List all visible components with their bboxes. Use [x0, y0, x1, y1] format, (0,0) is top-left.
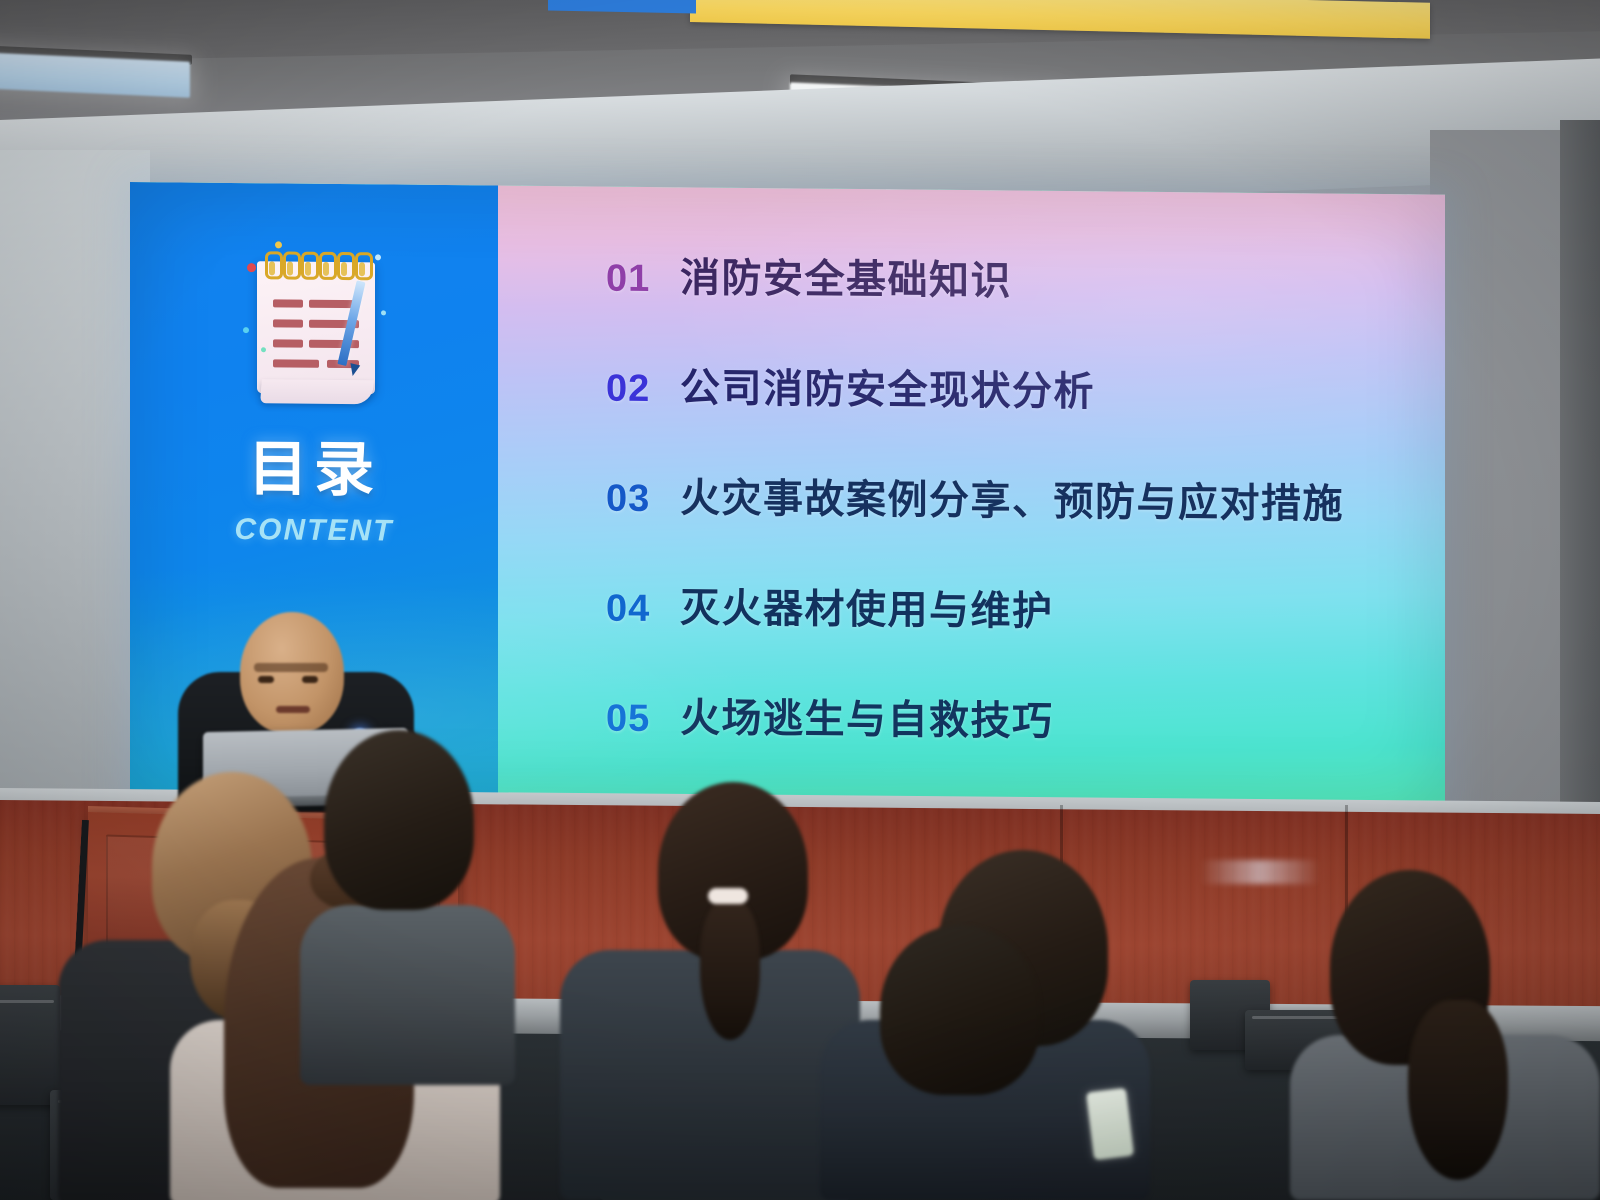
- toc-item-number: 02: [606, 368, 680, 412]
- chair[interactable]: [0, 985, 60, 1105]
- toc-item-label: 火场逃生与自救技巧: [680, 685, 1054, 747]
- toc-item: 04 灭火器材使用与维护: [606, 575, 1445, 641]
- confetti-dot: [243, 327, 249, 333]
- presenter-brow: [254, 663, 328, 672]
- presenter-eye-right: [302, 676, 318, 683]
- toc-item: 03 火灾事故案例分享、预防与应对措施: [606, 465, 1445, 531]
- notepad-ring: [355, 252, 373, 280]
- notepad-ring: [283, 251, 301, 279]
- notepad-ring: [337, 252, 355, 280]
- confetti-dot: [375, 254, 381, 260]
- notepad-text-line: [273, 339, 303, 347]
- notepad-text-line: [273, 359, 319, 367]
- notepad-ring: [301, 252, 319, 280]
- notepad-text-line: [273, 319, 303, 327]
- toc-item-number: 04: [606, 588, 680, 632]
- toc-item-label: 消防安全基础知识: [680, 245, 1012, 306]
- notepad-with-pen-icon: [239, 239, 389, 410]
- notepad-ring: [265, 251, 283, 279]
- presenter-mouth: [276, 706, 310, 713]
- audience-member-ponytail: [1408, 1000, 1508, 1180]
- toc-item-label: 公司消防安全现状分析: [680, 355, 1095, 417]
- confetti-dot: [381, 310, 386, 315]
- audience-member-hair: [324, 730, 474, 910]
- slide-title-en: CONTENT: [235, 513, 394, 549]
- desk-edge-light: [1200, 860, 1320, 884]
- notepad-text-line: [273, 299, 303, 307]
- toc-item-number: 01: [606, 258, 680, 302]
- confetti-dot: [247, 263, 256, 272]
- confetti-dot: [275, 241, 282, 248]
- toc-item-number: 05: [606, 698, 680, 742]
- chair-highlight: [0, 1000, 54, 1003]
- slide-toc-list: 01 消防安全基础知识 02 公司消防安全现状分析 03 火灾事故案例分享、预防…: [498, 186, 1445, 817]
- conference-room-photo: 目录 CONTENT 01 消防安全基础知识 02 公司消防安全现状分析 03 …: [0, 0, 1600, 1200]
- toc-item-label: 火灾事故案例分享、预防与应对措施: [680, 465, 1344, 529]
- audience-member-body: [300, 905, 515, 1085]
- audience-member-ponytail: [700, 900, 760, 1040]
- confetti-dot: [261, 347, 266, 352]
- audience-member-hair: [880, 925, 1040, 1095]
- toc-item-number: 03: [606, 478, 680, 522]
- presenter-head: [240, 612, 344, 734]
- wall-left-strip: [0, 150, 150, 790]
- smartphone[interactable]: [1086, 1088, 1134, 1160]
- presenter-eye-left: [258, 676, 274, 683]
- notepad-page-curl: [260, 379, 374, 404]
- toc-item: 05 火场逃生与自救技巧: [606, 685, 1445, 751]
- hair-tie: [708, 888, 748, 904]
- toc-item: 01 消防安全基础知识: [606, 245, 1445, 311]
- slide-title-cn: 目录: [248, 439, 380, 500]
- toc-item: 02 公司消防安全现状分析: [606, 355, 1445, 421]
- wall-right-shadow: [1560, 120, 1600, 840]
- toc-item-label: 灭火器材使用与维护: [680, 575, 1054, 637]
- notepad-ring: [319, 252, 337, 280]
